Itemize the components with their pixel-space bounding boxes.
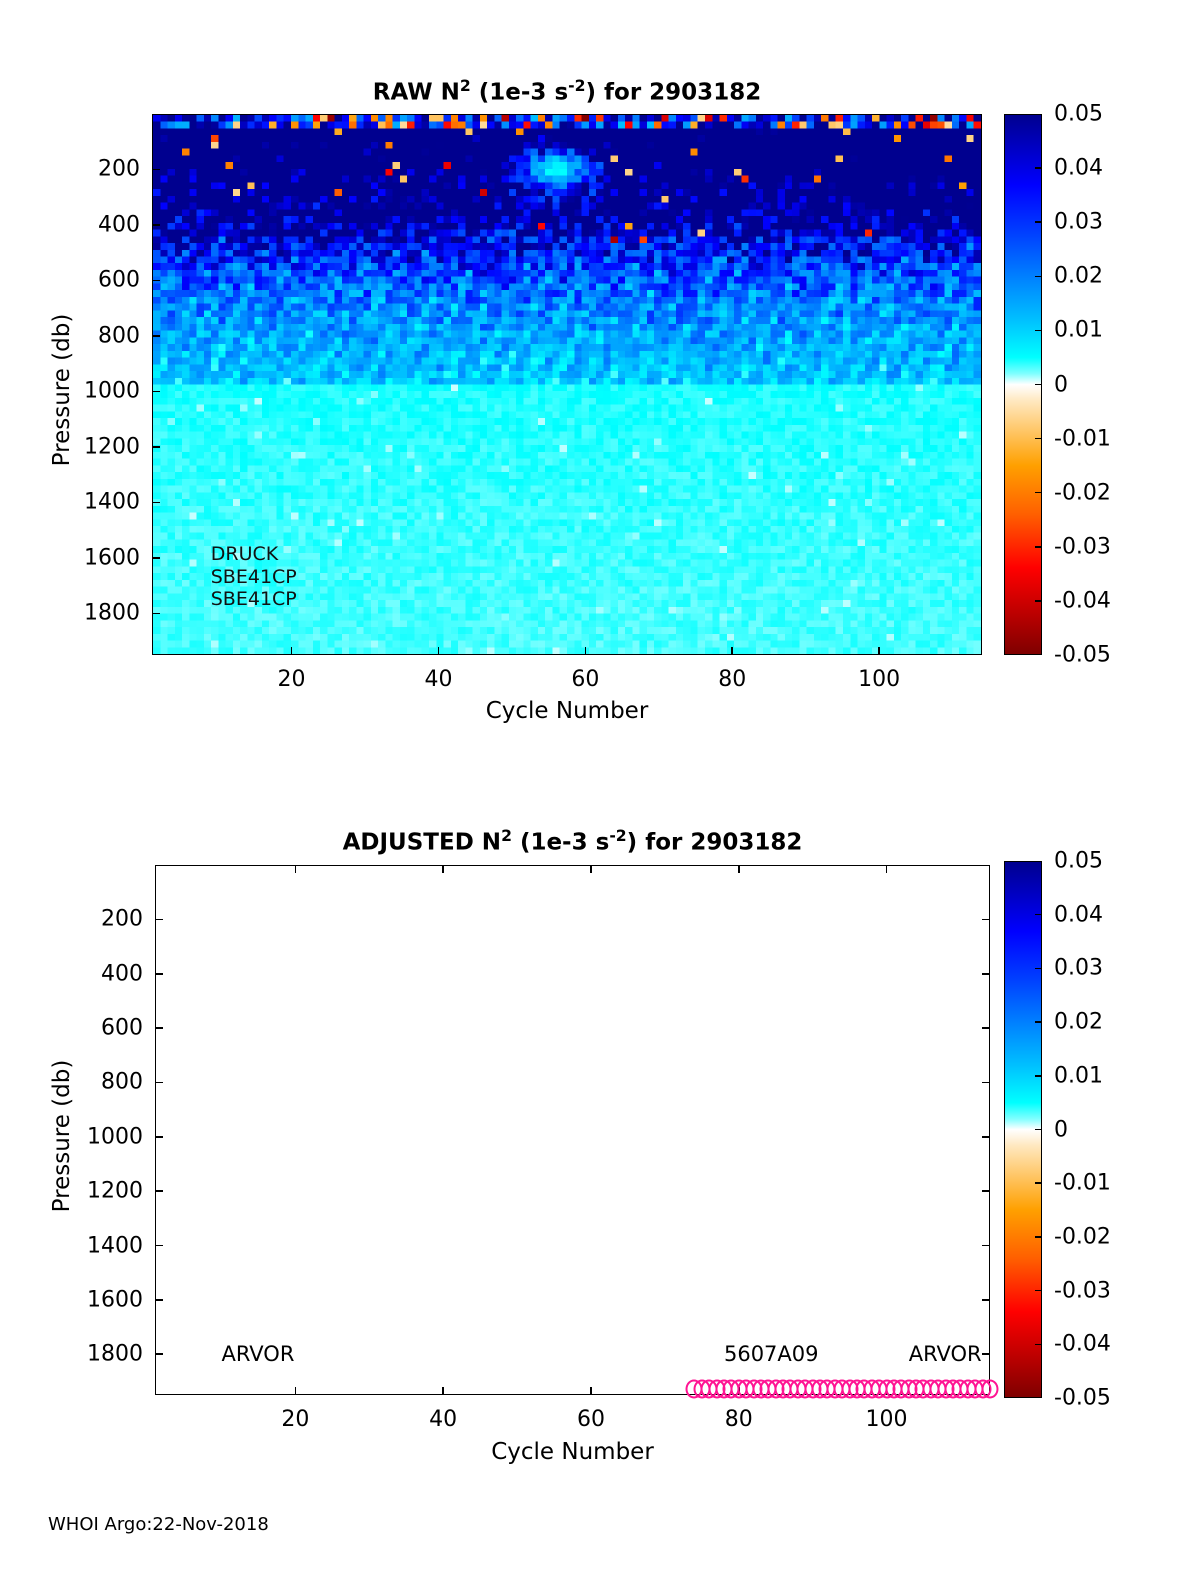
colorbar-tick-label: 0.04 xyxy=(1054,902,1103,927)
colorbar-tick-mark xyxy=(1035,1290,1042,1292)
colorbar-tick-label: 0.02 xyxy=(1054,1010,1103,1035)
colorbar-tick-label: -0.03 xyxy=(1054,1278,1111,1303)
colorbar-tick-label: -0.05 xyxy=(1054,1386,1111,1411)
figure-footer: WHOI Argo:22-Nov-2018 xyxy=(48,1514,269,1535)
colorbar-tick-label: -0.04 xyxy=(1054,1332,1111,1357)
colorbar-tick-label: -0.01 xyxy=(1054,1171,1111,1196)
colorbar-tick-label: 0 xyxy=(1054,1117,1068,1142)
cycle-flag-marker xyxy=(982,1380,999,1399)
colorbar-tick-mark xyxy=(1035,1182,1042,1184)
colorbar-tick-label: 0.01 xyxy=(1054,1063,1103,1088)
colorbar-tick-label: -0.02 xyxy=(1054,1224,1111,1249)
colorbar-tick-mark xyxy=(1035,1075,1042,1077)
colorbar-tick-mark xyxy=(1035,1344,1042,1346)
colorbar-tick-label: 0.03 xyxy=(1054,956,1103,981)
colorbar-tick-mark xyxy=(1035,914,1042,916)
colorbar-tick-mark xyxy=(1035,1021,1042,1023)
colorbar-tick-mark xyxy=(1035,1129,1042,1131)
colorbar-tick-mark xyxy=(1035,968,1042,970)
colorbar-tick-mark xyxy=(1035,1236,1042,1238)
colorbar-tick-label: 0.05 xyxy=(1054,849,1103,874)
